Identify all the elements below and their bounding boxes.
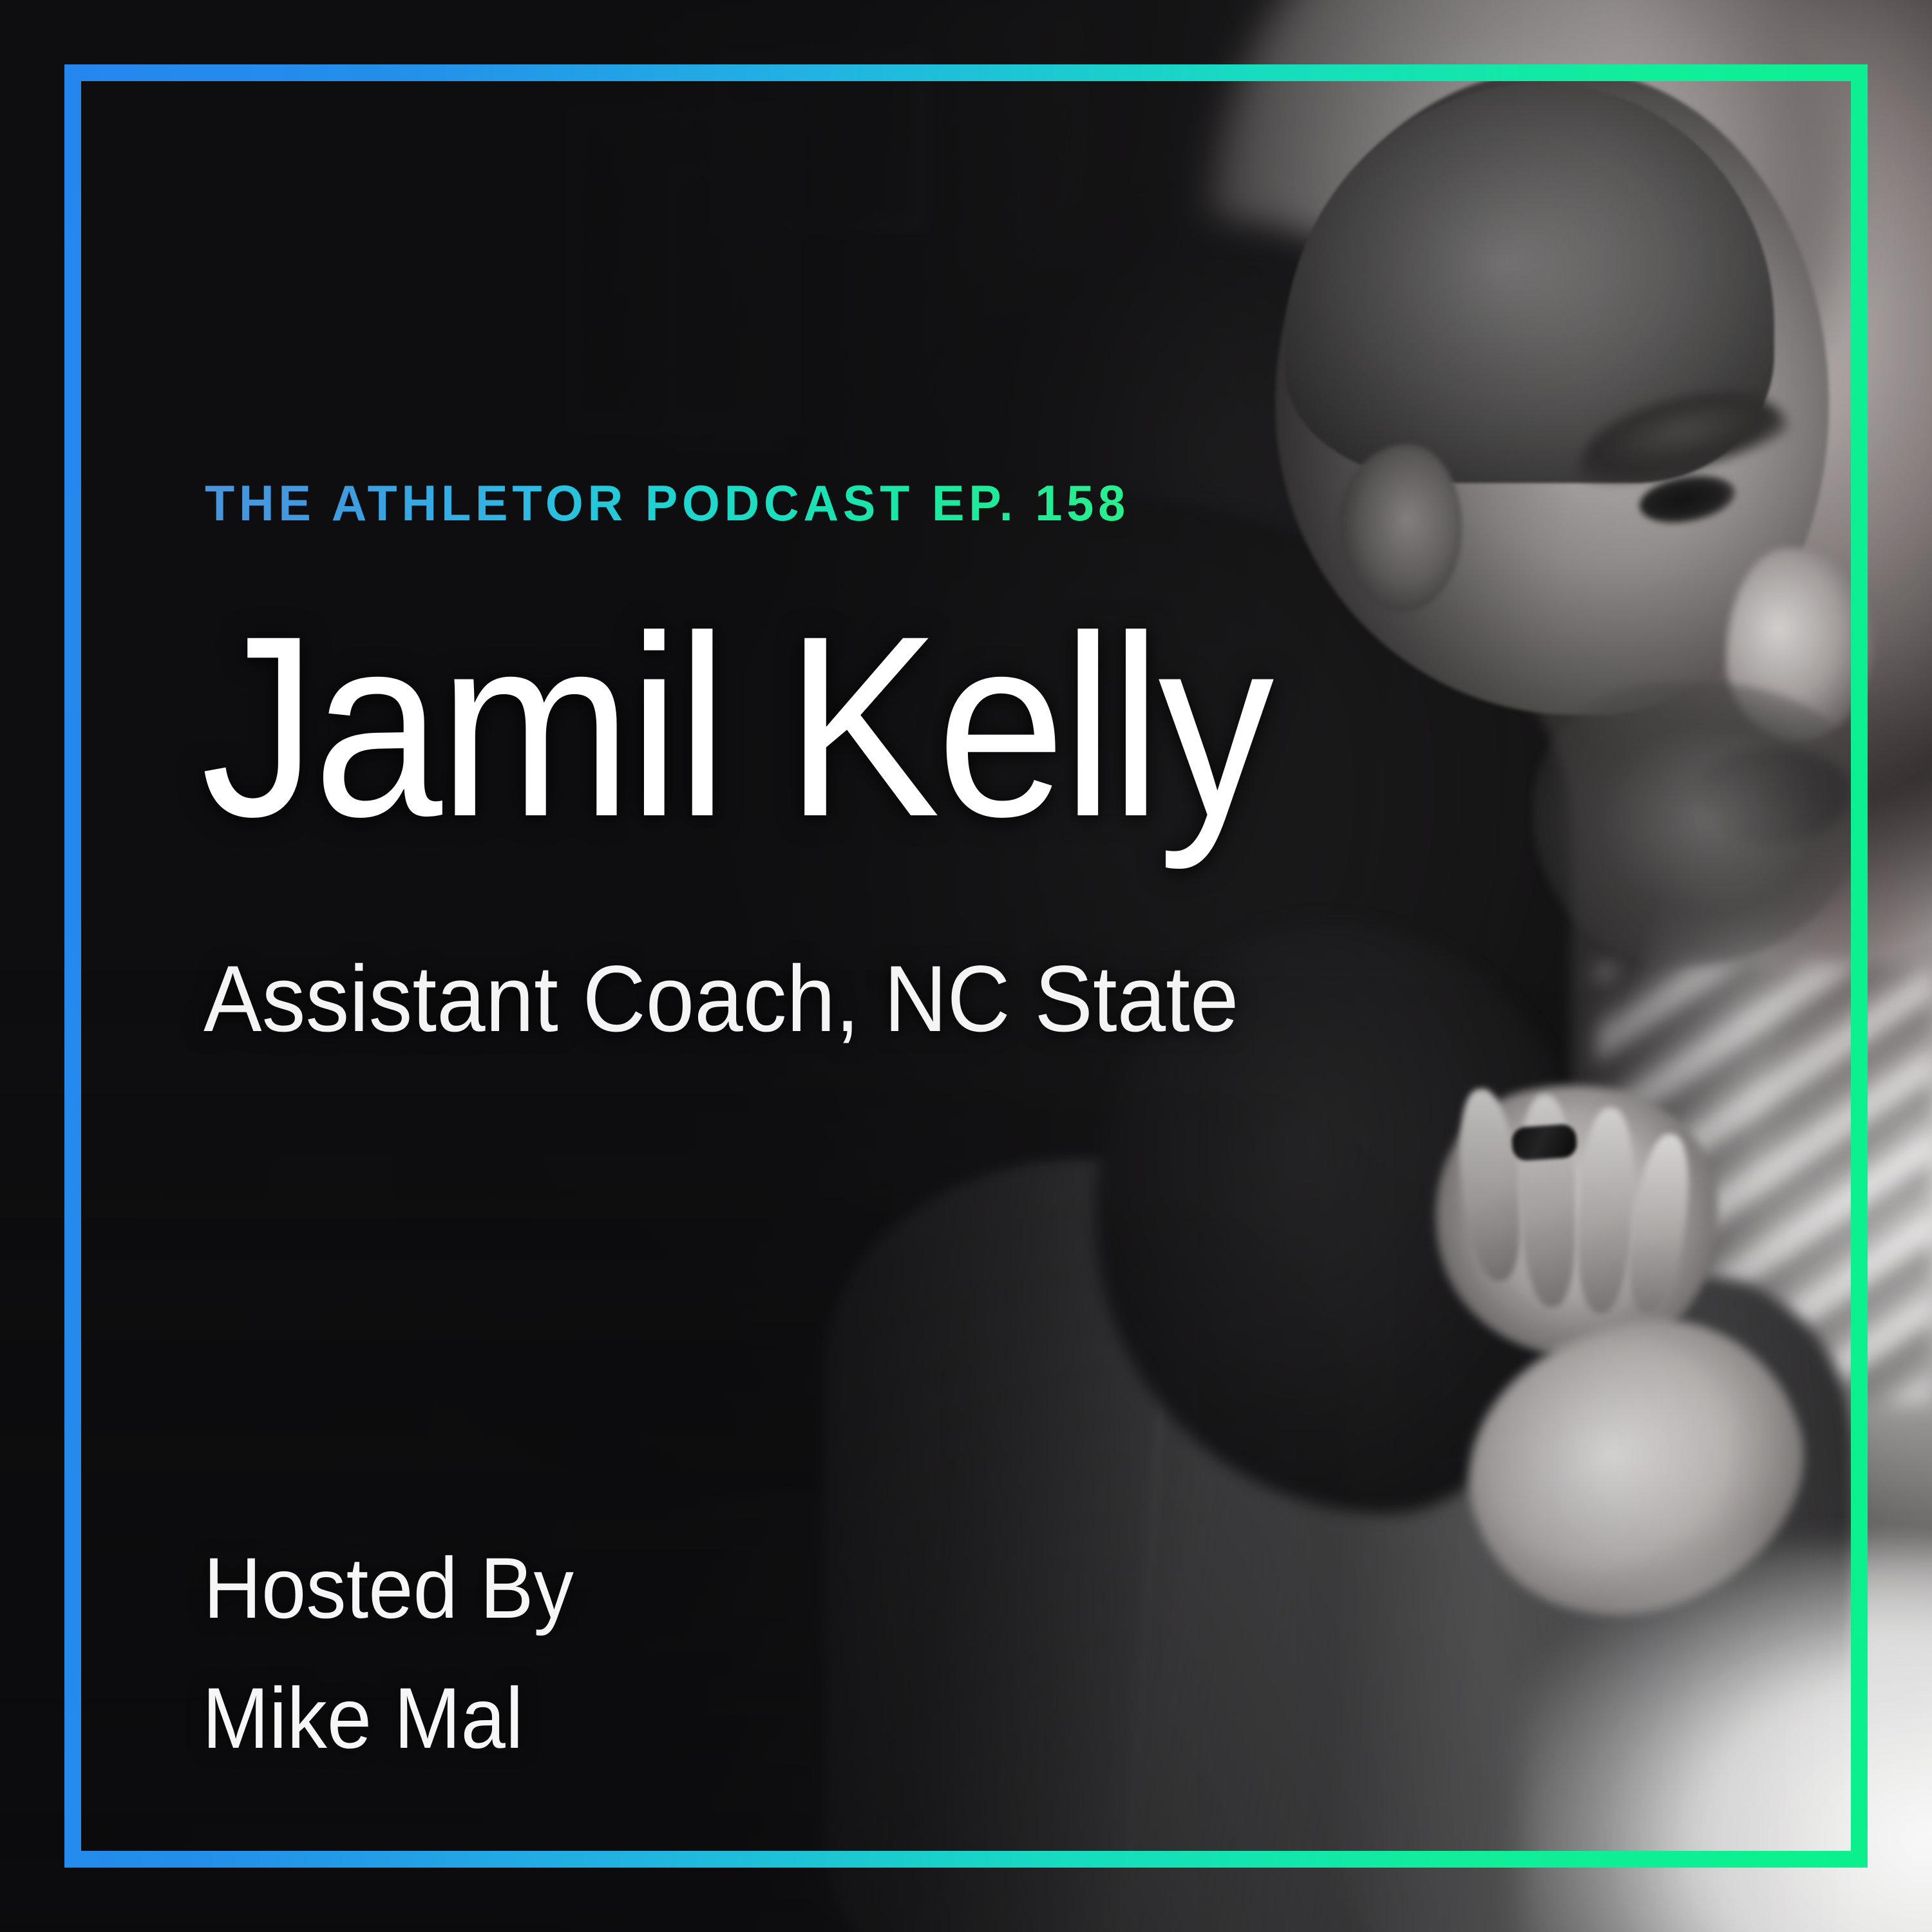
guest-name: Jamil Kelly [201, 598, 1271, 855]
guest-role: Assistant Coach, NC State [204, 952, 1238, 1046]
text-column: THE ATHLETOR PODCAST EP. 158 Jamil Kelly… [205, 0, 1718, 1932]
podcast-episode-eyebrow: THE ATHLETOR PODCAST EP. 158 [205, 478, 1130, 528]
podcast-cover-art: THE ATHLETOR PODCAST EP. 158 Jamil Kelly… [0, 0, 1932, 1932]
hosted-by-label: Hosted By [204, 1546, 574, 1632]
host-name: Mike Mal [202, 1676, 524, 1762]
